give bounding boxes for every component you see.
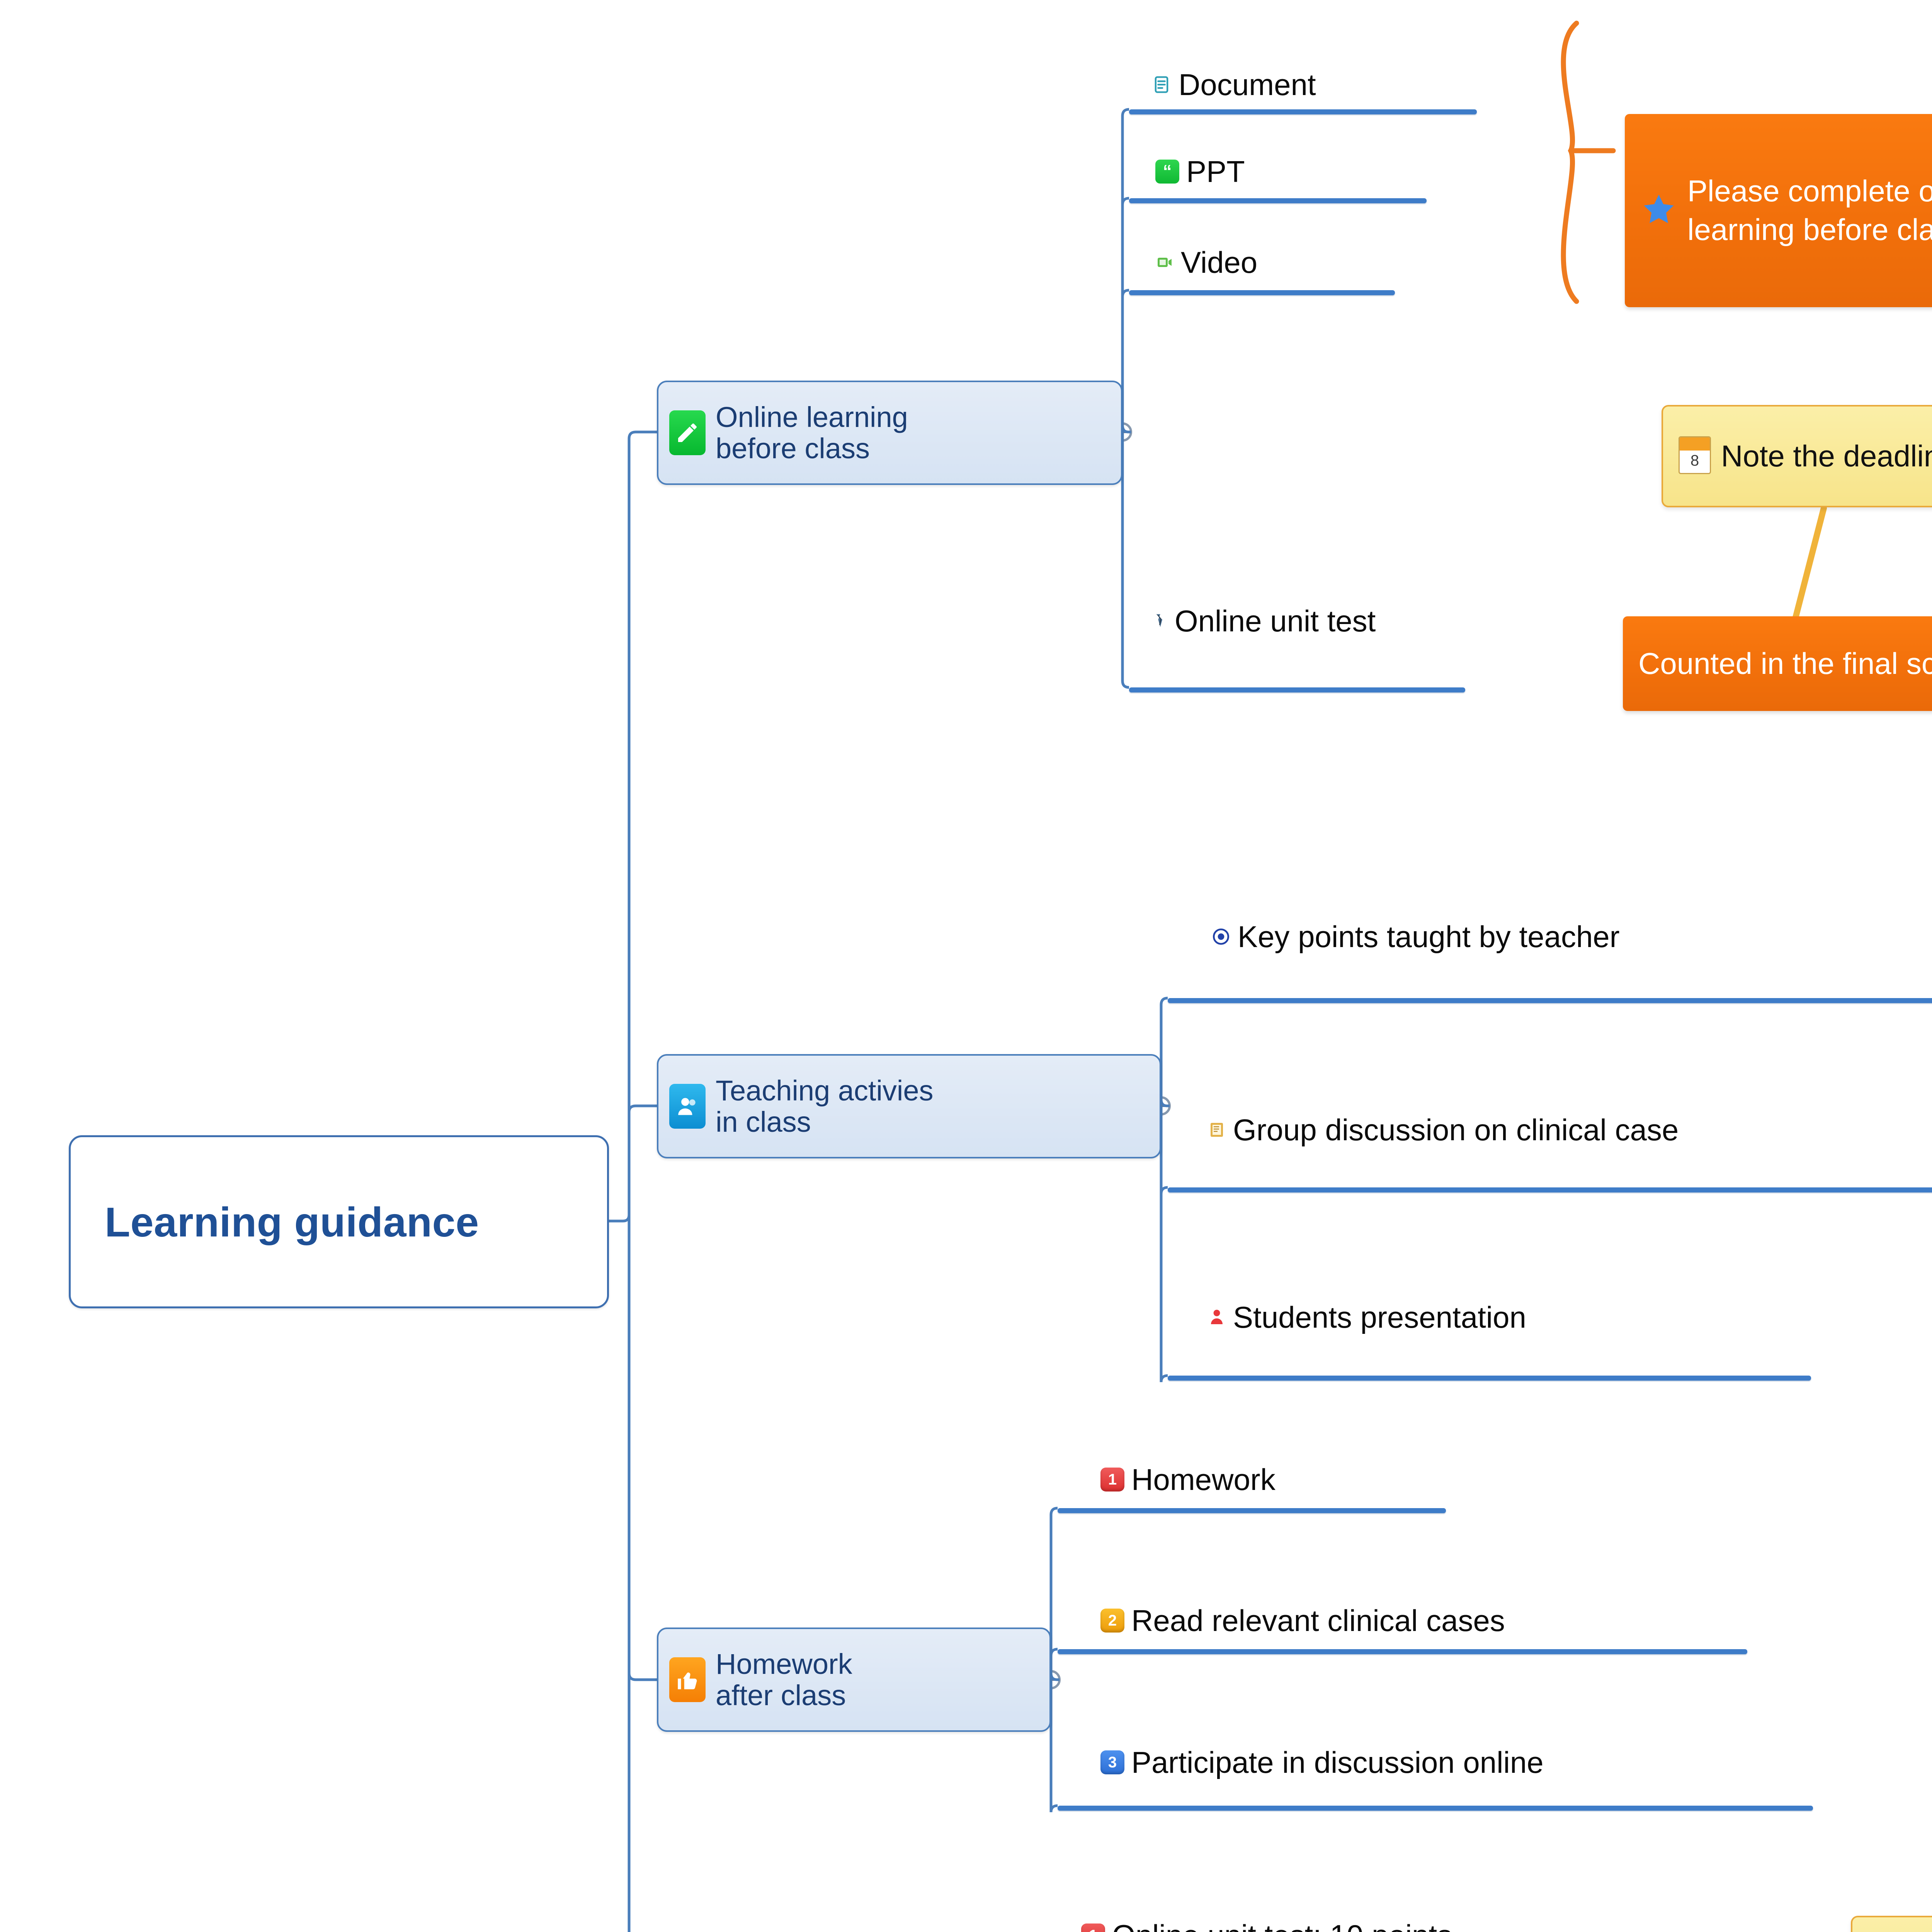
- leaf-underline: [1129, 290, 1395, 295]
- branch-online-learning-before-class[interactable]: Online learning before class: [657, 381, 1122, 485]
- badge-1-icon: 1: [1081, 1923, 1105, 1932]
- leaf-homework[interactable]: 1 Homework: [1100, 1464, 1276, 1495]
- leaf-underline: [1168, 998, 1932, 1003]
- calendar-day: 8: [1680, 451, 1710, 471]
- leaf-underline: [1168, 1187, 1932, 1192]
- callout-text: Note the deadline of online test!: [1721, 438, 1932, 474]
- badge-3-icon: 3: [1100, 1750, 1124, 1774]
- leaf-label: Read relevant clinical cases: [1131, 1605, 1505, 1636]
- person-icon: [1207, 1305, 1226, 1329]
- badge-number: 1: [1081, 1923, 1105, 1932]
- leaf-label: Key points taught by teacher: [1238, 922, 1620, 952]
- pen-nib-icon: [1151, 609, 1168, 633]
- leaf-read-relevant-clinical-cases[interactable]: 2 Read relevant clinical cases: [1100, 1605, 1505, 1636]
- target-icon: [1211, 927, 1231, 946]
- leaf-label: Homework: [1131, 1464, 1276, 1495]
- people-icon: [669, 1084, 706, 1129]
- mindmap-canvas: Learning guidance Online learning before…: [0, 0, 1932, 1932]
- root-node[interactable]: Learning guidance: [69, 1135, 609, 1308]
- leaf-ppt[interactable]: “ PPT: [1155, 156, 1245, 187]
- leaf-label: Participate in discussion online: [1131, 1747, 1544, 1777]
- leaf-group-discussion-on-clinical-case[interactable]: Group discussion on clinical case: [1207, 1115, 1679, 1145]
- callout-text: Counted in the final score: [1638, 645, 1932, 683]
- calendar-icon: 8: [1679, 436, 1711, 476]
- badge-2-icon: 2: [1100, 1609, 1124, 1633]
- root-label: Learning guidance: [105, 1198, 479, 1246]
- leaf-label: Video: [1181, 247, 1257, 277]
- leaf-participate-in-discussion-online[interactable]: 3 Participate in discussion online: [1100, 1747, 1544, 1777]
- note-icon: [1207, 1120, 1226, 1140]
- leaf-label: Online unit test: [1175, 606, 1376, 636]
- leaf-key-points-taught-by-teacher[interactable]: Key points taught by teacher: [1211, 922, 1620, 952]
- star-icon: [1640, 191, 1677, 230]
- leaf-online-unit-test-10-points[interactable]: 1 Online unit test: 10 points: [1081, 1920, 1452, 1932]
- leaf-video[interactable]: Video: [1155, 247, 1257, 277]
- callout-text: Please complete online learning before c…: [1687, 172, 1932, 249]
- quote-icon: “: [1155, 160, 1179, 184]
- branch-homework-after-class[interactable]: Homework after class: [657, 1628, 1051, 1732]
- branch-label: Teaching activies in class: [716, 1075, 934, 1138]
- leaf-label: Students presentation: [1233, 1302, 1526, 1332]
- leaf-label: PPT: [1186, 156, 1245, 187]
- leaf-underline: [1129, 687, 1465, 692]
- leaf-underline: [1168, 1376, 1811, 1381]
- leaf-document[interactable]: Document: [1151, 70, 1316, 100]
- badge-number: 2: [1100, 1609, 1124, 1633]
- callout-please-complete-online-learning[interactable]: Please complete online learning before c…: [1625, 114, 1932, 307]
- leaf-label: Group discussion on clinical case: [1233, 1115, 1679, 1145]
- branch-teaching-activies-in-class[interactable]: Teaching activies in class: [657, 1054, 1161, 1158]
- leaf-underline: [1129, 198, 1427, 203]
- callout-counted-in-final-score-top[interactable]: Counted in the final score: [1623, 616, 1932, 711]
- leaf-underline: [1058, 1508, 1446, 1513]
- thumbs-up-icon: [669, 1657, 706, 1702]
- leaf-underline: [1058, 1649, 1747, 1654]
- badge-number: 3: [1100, 1750, 1124, 1774]
- leaf-online-unit-test[interactable]: Online unit test: [1151, 606, 1376, 636]
- badge-number: 1: [1100, 1468, 1124, 1492]
- branch-label: Online learning before class: [716, 401, 908, 464]
- leaf-label: Document: [1179, 70, 1316, 100]
- leaf-underline: [1058, 1806, 1813, 1811]
- callout-repeated-posts-deleted[interactable]: Repeated posts will be deleted!: [1851, 1916, 1932, 1932]
- leaf-underline: [1129, 109, 1477, 114]
- branch-label: Homework after class: [716, 1648, 852, 1711]
- video-icon: [1155, 253, 1174, 272]
- callout-note-deadline-online-test[interactable]: 8 Note the deadline of online test!: [1662, 405, 1932, 507]
- leaf-students-presentation[interactable]: Students presentation: [1207, 1302, 1526, 1332]
- pencil-icon: [669, 410, 706, 455]
- badge-1-icon: 1: [1100, 1468, 1124, 1492]
- document-icon: [1151, 75, 1172, 95]
- leaf-label: Online unit test: 10 points: [1112, 1920, 1452, 1932]
